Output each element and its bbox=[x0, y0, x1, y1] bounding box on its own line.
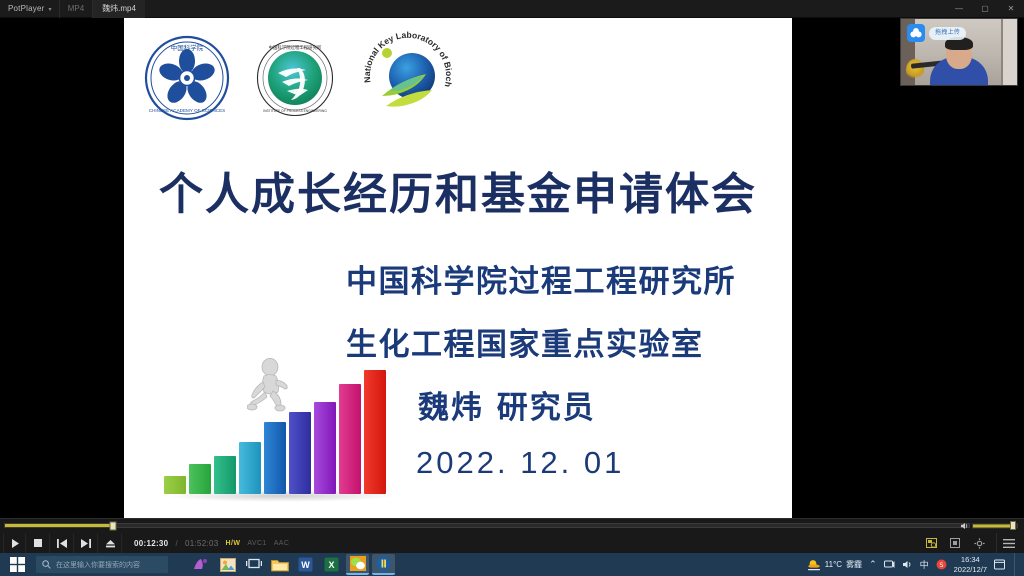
previous-button[interactable] bbox=[51, 533, 74, 553]
chart-bar bbox=[214, 456, 236, 494]
seek-row bbox=[0, 519, 1024, 532]
play-button[interactable] bbox=[3, 533, 26, 553]
cloud-icon bbox=[907, 24, 925, 42]
minimize-button[interactable]: — bbox=[946, 0, 972, 18]
speaker-icon bbox=[960, 521, 969, 530]
clock-date: 2022/12/7 bbox=[954, 565, 987, 575]
photo-viewer-icon[interactable] bbox=[216, 554, 239, 575]
svg-text:INSTITUTE OF PROCESS ENGINEERI: INSTITUTE OF PROCESS ENGINEERING bbox=[263, 109, 327, 113]
bookmark-button[interactable] bbox=[943, 533, 967, 553]
total-time: 01:52:03 bbox=[185, 539, 219, 548]
growth-chart-graphic bbox=[164, 356, 399, 506]
affiliation-line-1: 中国科学院过程工程研究所 bbox=[346, 256, 736, 301]
chart-bar bbox=[339, 384, 361, 494]
svg-text:W: W bbox=[301, 560, 310, 570]
cas-logo: 中国科学院 CHINESE ACADEMY OF SCIENCES bbox=[144, 35, 230, 126]
taskbar-app-icons: W X bbox=[190, 554, 395, 575]
chevron-down-icon: ▾ bbox=[48, 6, 51, 13]
app-name-menu[interactable]: PotPlayer ▾ bbox=[0, 0, 60, 18]
start-button[interactable] bbox=[0, 553, 34, 576]
search-icon bbox=[42, 560, 51, 569]
chart-bar bbox=[314, 402, 336, 494]
upload-badge[interactable]: 拖拽上传 bbox=[907, 24, 966, 42]
close-button[interactable]: ✕ bbox=[998, 0, 1024, 18]
presentation-slide: 中国科学院 CHINESE ACADEMY OF SCIENCES bbox=[124, 18, 792, 518]
chart-bar bbox=[239, 442, 261, 494]
clock-time: 16:34 bbox=[954, 555, 987, 565]
volume-slider[interactable] bbox=[972, 523, 1018, 528]
svg-text:中国科学院: 中国科学院 bbox=[171, 43, 204, 52]
file-name-tab[interactable]: 魏炜.mp4 bbox=[93, 0, 145, 18]
clock-widget[interactable]: 16:34 2022/12/7 bbox=[954, 555, 987, 575]
ipe-logo: 中国科学院过程工程研究所 INSTITUTE OF PROCESS ENGINE… bbox=[256, 39, 334, 122]
nkl-biochem-logo: National Key Laboratory of Biochemical E… bbox=[360, 30, 456, 131]
upload-badge-label: 拖拽上传 bbox=[929, 27, 966, 40]
file-explorer-icon[interactable] bbox=[268, 554, 291, 575]
network-icon[interactable] bbox=[884, 560, 895, 569]
window-controls: — ▢ ✕ bbox=[946, 0, 1024, 18]
weather-widget[interactable]: 11°C 雾霾 bbox=[807, 559, 862, 571]
seek-progress-fill bbox=[5, 524, 113, 527]
time-separator: / bbox=[175, 539, 178, 548]
windows-taskbar: 在这里输入你要搜索的内容 bbox=[0, 553, 1024, 576]
volume-handle[interactable] bbox=[1010, 521, 1016, 530]
stop-button[interactable] bbox=[27, 533, 50, 553]
task-view-icon[interactable] bbox=[242, 554, 265, 575]
seek-bar[interactable] bbox=[4, 523, 970, 528]
chart-bar bbox=[189, 464, 211, 494]
ime-indicator[interactable]: 中 bbox=[920, 558, 929, 571]
svg-text:CHINESE ACADEMY OF SCIENCES: CHINESE ACADEMY OF SCIENCES bbox=[149, 108, 226, 113]
chart-bar bbox=[289, 412, 311, 494]
seek-handle[interactable] bbox=[109, 521, 116, 530]
haze-icon bbox=[807, 559, 821, 571]
file-format-label: MP4 bbox=[60, 0, 93, 18]
maximize-button[interactable]: ▢ bbox=[972, 0, 998, 18]
slide-subtitle-block: 中国科学院过程工程研究所 生化工程国家重点实验室 魏炜 研究员 2022. 12… bbox=[346, 256, 736, 499]
playlist-button[interactable] bbox=[919, 533, 943, 553]
show-hidden-icons-chevron[interactable]: ⌃ bbox=[869, 559, 877, 570]
weather-temperature: 11°C bbox=[825, 560, 842, 569]
system-tray: 11°C 雾霾 ⌃ 中 S 16:34 2022/12/7 bbox=[807, 553, 1020, 576]
affiliation-line-2: 生化工程国家重点实验室 bbox=[346, 319, 736, 364]
video-codec-tag: AVC1 bbox=[247, 540, 266, 547]
app-name-label: PotPlayer bbox=[8, 4, 44, 13]
volume-tray-icon[interactable] bbox=[902, 560, 913, 569]
word-app-icon[interactable]: W bbox=[294, 554, 317, 575]
excel-app-icon[interactable]: X bbox=[320, 554, 343, 575]
show-desktop-button[interactable] bbox=[1014, 553, 1020, 576]
time-display: 00:12:30 / 01:52:03 H/W AVC1 AAC bbox=[134, 539, 289, 548]
logo-row: 中国科学院 CHINESE ACADEMY OF SCIENCES bbox=[144, 30, 456, 131]
sogou-ime-icon[interactable]: S bbox=[936, 559, 947, 570]
windows-logo-icon bbox=[10, 557, 25, 572]
search-placeholder: 在这里输入你要搜索的内容 bbox=[56, 560, 140, 570]
potplayer-app-icon[interactable] bbox=[372, 554, 395, 575]
presenter-name: 魏炜 研究员 bbox=[346, 382, 736, 427]
potplayer-title-bar: PotPlayer ▾ MP4 魏炜.mp4 — ▢ ✕ bbox=[0, 0, 1024, 18]
svg-text:中国科学院过程工程研究所: 中国科学院过程工程研究所 bbox=[269, 44, 322, 51]
button-row: 00:12:30 / 01:52:03 H/W AVC1 AAC bbox=[0, 532, 1024, 554]
current-time: 00:12:30 bbox=[134, 539, 168, 548]
climbing-figure-icon bbox=[247, 358, 293, 420]
notification-center-icon[interactable] bbox=[994, 559, 1007, 571]
player-control-bar: 00:12:30 / 01:52:03 H/W AVC1 AAC bbox=[0, 518, 1024, 553]
volume-control[interactable] bbox=[960, 521, 1018, 530]
photos-app-icon[interactable] bbox=[190, 554, 213, 575]
menu-button[interactable] bbox=[996, 533, 1020, 553]
chart-bar bbox=[164, 476, 186, 494]
settings-button[interactable] bbox=[967, 533, 991, 553]
next-button[interactable] bbox=[75, 533, 98, 553]
webcam-door-right bbox=[1001, 19, 1017, 85]
svg-text:X: X bbox=[328, 560, 334, 570]
chart-bar bbox=[264, 422, 286, 494]
slide-title: 个人成长经历和基金申请体会 bbox=[124, 158, 792, 222]
svg-text:S: S bbox=[939, 561, 943, 569]
presentation-date: 2022. 12. 01 bbox=[346, 445, 736, 481]
audio-codec-tag: AAC bbox=[274, 540, 290, 547]
video-canvas[interactable]: 中国科学院 CHINESE ACADEMY OF SCIENCES bbox=[0, 18, 1024, 518]
decoder-tag[interactable]: H/W bbox=[226, 540, 241, 547]
right-buttons bbox=[919, 533, 1020, 553]
weather-description: 雾霾 bbox=[846, 559, 862, 570]
tray-icon-group: ⌃ 中 S bbox=[869, 558, 947, 571]
chart-bar bbox=[364, 370, 386, 494]
titlebar-drag-area[interactable] bbox=[145, 0, 946, 18]
volume-fill bbox=[973, 524, 1013, 527]
wechat-app-icon[interactable] bbox=[346, 554, 369, 575]
webcam-overlay[interactable]: 拖拽上传 bbox=[900, 18, 1018, 86]
search-input[interactable]: 在这里输入你要搜索的内容 bbox=[36, 556, 168, 573]
eject-button[interactable] bbox=[99, 533, 122, 553]
